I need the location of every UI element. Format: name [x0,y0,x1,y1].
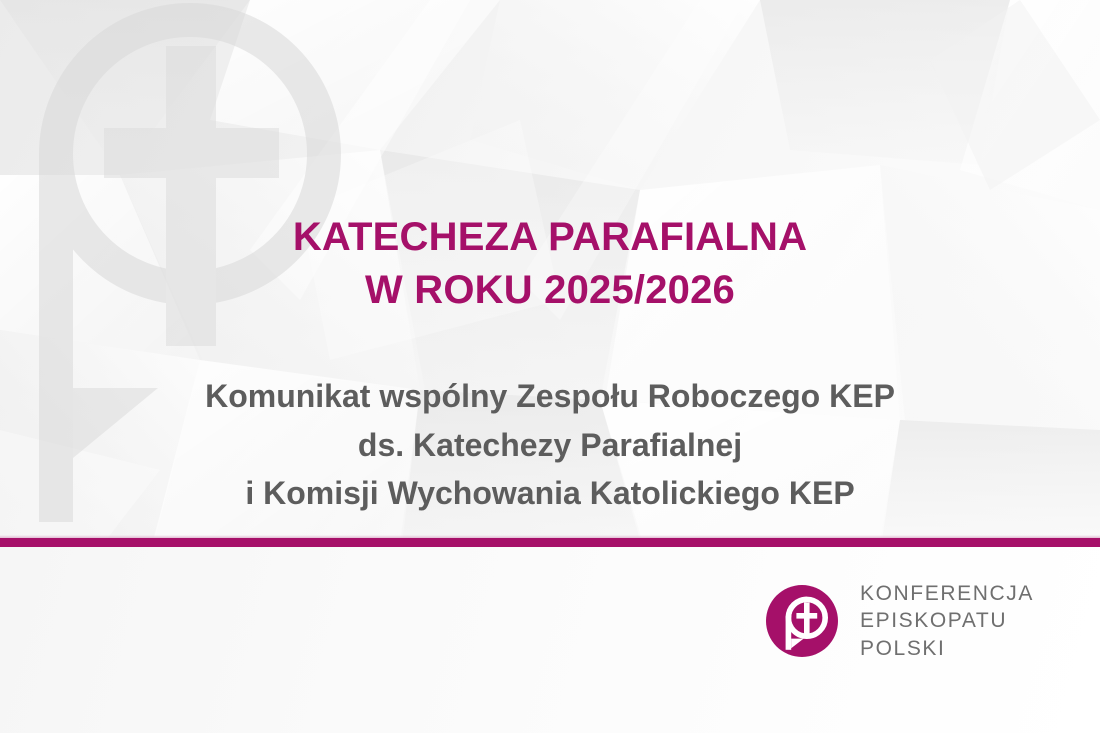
title-slide: KATECHEZA PARAFIALNA W ROKU 2025/2026 Ko… [0,0,1100,733]
page-subtitle: Komunikat wspólny Zespołu Roboczego KEP … [0,372,1100,518]
page-title: KATECHEZA PARAFIALNA W ROKU 2025/2026 [0,211,1100,317]
wordmark-line-2: EPISKOPATU [860,607,1034,634]
kep-p-cross-monogram-icon [762,581,842,661]
title-line-1: KATECHEZA PARAFIALNA [0,211,1100,264]
wordmark-line-1: KONFERENCJA [860,580,1034,607]
divider-fill [0,538,1100,547]
subtitle-line-1: Komunikat wspólny Zespołu Roboczego KEP [0,372,1100,421]
kep-logo-wordmark: KONFERENCJA EPISKOPATU POLSKI [860,580,1034,662]
subtitle-line-2: ds. Katechezy Parafialnej [0,421,1100,470]
wordmark-line-3: POLSKI [860,635,1034,662]
kep-logo-lockup: KONFERENCJA EPISKOPATU POLSKI [762,580,1034,662]
subtitle-line-3: i Komisji Wychowania Katolickiego KEP [0,469,1100,518]
title-line-2: W ROKU 2025/2026 [0,264,1100,317]
